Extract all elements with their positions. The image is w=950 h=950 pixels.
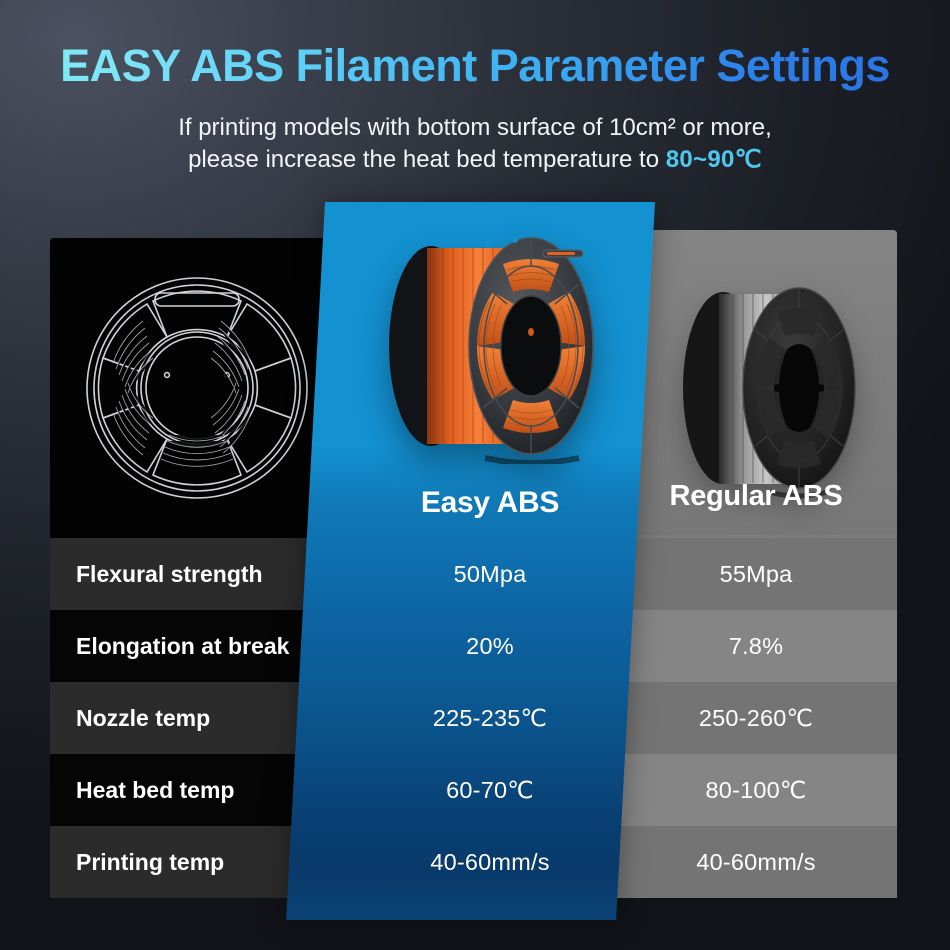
heat-bed-temp-highlight: 80~90℃ [666, 146, 762, 173]
page-title: EASY ABS Filament Parameter Settings [0, 40, 950, 92]
subtitle-line-2: please increase the heat bed temperature… [0, 145, 950, 176]
regular-value-elongation: 7.8% [615, 610, 897, 682]
column-header-easy-abs: Easy ABS [325, 468, 655, 538]
regular-value-flexural: 55Mpa [615, 538, 897, 610]
easy-value-elongation: 20% [325, 610, 655, 682]
row-label-flexural-strength: Flexural strength [50, 538, 343, 610]
wireframe-spool-image-area [50, 238, 343, 538]
easy-abs-column-panel: Easy ABS 50Mpa 20% 225-235℃ 60-70℃ 40-60… [286, 202, 655, 920]
easy-value-flexural: 50Mpa [325, 538, 655, 610]
easy-value-printing: 40-60mm/s [325, 826, 655, 898]
subtitle-line-1: If printing models with bottom surface o… [0, 113, 950, 144]
infographic-root: EASY ABS Filament Parameter Settings If … [0, 0, 950, 950]
easy-value-heatbed: 60-70℃ [325, 754, 655, 826]
grey-filament-spool-image [651, 260, 863, 500]
filament-spool-outline-icon [83, 263, 311, 513]
easy-value-nozzle: 225-235℃ [325, 682, 655, 754]
subtitle-line-2-text: please increase the heat bed temperature… [188, 146, 666, 173]
column-header-regular-abs: Regular ABS [615, 466, 897, 526]
regular-value-nozzle: 250-260℃ [615, 682, 897, 754]
orange-filament-spool-image [335, 224, 645, 464]
regular-value-printing: 40-60mm/s [615, 826, 897, 898]
regular-value-heatbed: 80-100℃ [615, 754, 897, 826]
